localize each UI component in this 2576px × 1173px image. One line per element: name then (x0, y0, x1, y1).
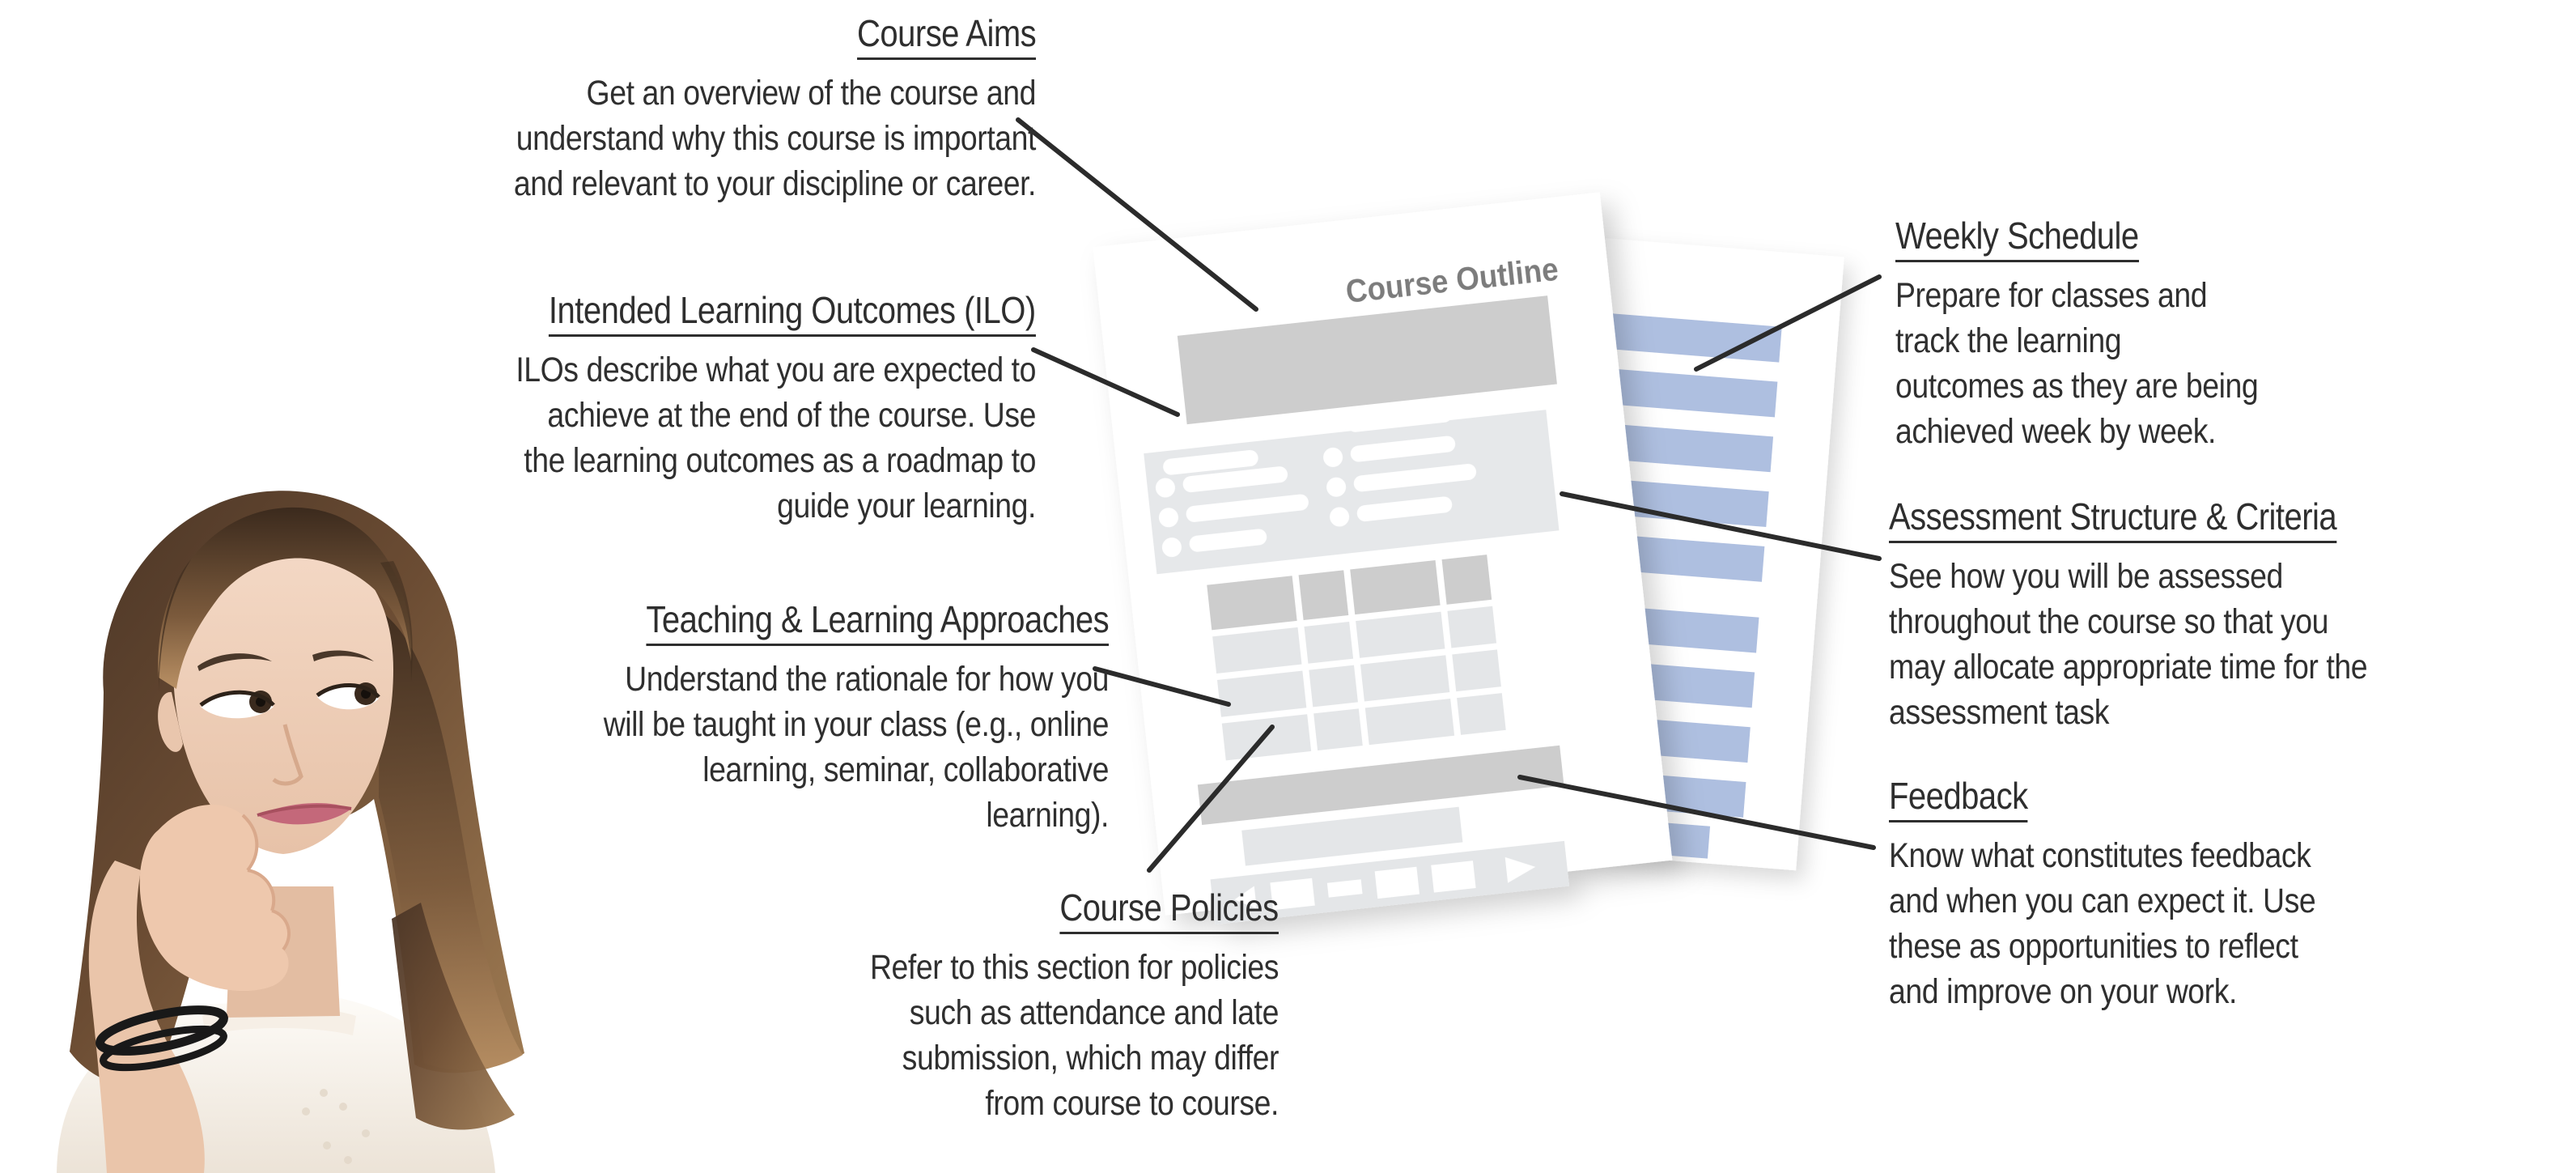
callout-body-assessment: See how you will be assessed throughout … (1889, 555, 2494, 736)
doc-footer-bar-light (1241, 807, 1462, 866)
callout-title-ilo: Intended Learning Outcomes (ILO) (549, 291, 1036, 337)
doc-table (1207, 555, 1506, 760)
callout-body-ilo: ILOs describe what you are expected to a… (261, 348, 1036, 529)
document-title: Course Outline (1344, 251, 1560, 310)
callout-title-course-aims: Course Aims (857, 15, 1036, 60)
leader-line-course-aims (1018, 120, 1256, 309)
leader-line-policies (1149, 727, 1272, 870)
callout-body-feedback: Know what constitutes feedback and when … (1889, 834, 2452, 1015)
callout-weekly-schedule: Weekly Schedule Prepare for classes and … (1895, 217, 2543, 454)
callout-title-policies: Course Policies (1060, 889, 1279, 934)
callout-body-teaching: Understand the rationale for how you wil… (342, 657, 1109, 839)
leader-line-ilo (1033, 350, 1178, 414)
leader-line-teaching (1095, 669, 1229, 704)
front-page: Course Outline (1093, 192, 1674, 929)
blue-stripe-group (1498, 308, 1782, 861)
callout-feedback: Feedback Know what constitutes feedback … (1889, 777, 2536, 1014)
callout-intended-learning-outcomes: Intended Learning Outcomes (ILO) ILOs de… (146, 291, 1036, 529)
doc-header-bar (1178, 295, 1557, 424)
leader-line-assessment (1562, 494, 1879, 559)
callout-teaching-learning-approaches: Teaching & Learning Approaches Understan… (227, 601, 1109, 838)
callout-assessment-structure-criteria: Assessment Structure & Criteria See how … (1889, 498, 2576, 735)
leader-lines (1018, 120, 1879, 870)
doc-footer-bar-dark (1198, 746, 1564, 825)
callout-title-assessment: Assessment Structure & Criteria (1889, 498, 2336, 543)
callout-title-feedback: Feedback (1889, 777, 2028, 822)
leader-line-weekly-schedule (1696, 277, 1879, 369)
callout-title-teaching: Teaching & Learning Approaches (646, 601, 1109, 646)
callout-course-policies: Course Policies Refer to this section fo… (453, 889, 1279, 1126)
callout-body-course-aims: Get an overview of the course and unders… (275, 71, 1036, 207)
infographic-canvas: Course Outline (0, 0, 2576, 1173)
callout-body-policies: Refer to this section for policies such … (561, 946, 1279, 1127)
back-page (1473, 232, 1844, 870)
leader-line-feedback (1520, 777, 1874, 848)
callout-course-aims: Course Aims Get an overview of the cours… (162, 15, 1036, 207)
callout-title-weekly-schedule: Weekly Schedule (1895, 217, 2139, 262)
callout-body-weekly-schedule: Prepare for classes and track the learni… (1895, 274, 2459, 455)
doc-bullet-panel (1142, 395, 1559, 574)
